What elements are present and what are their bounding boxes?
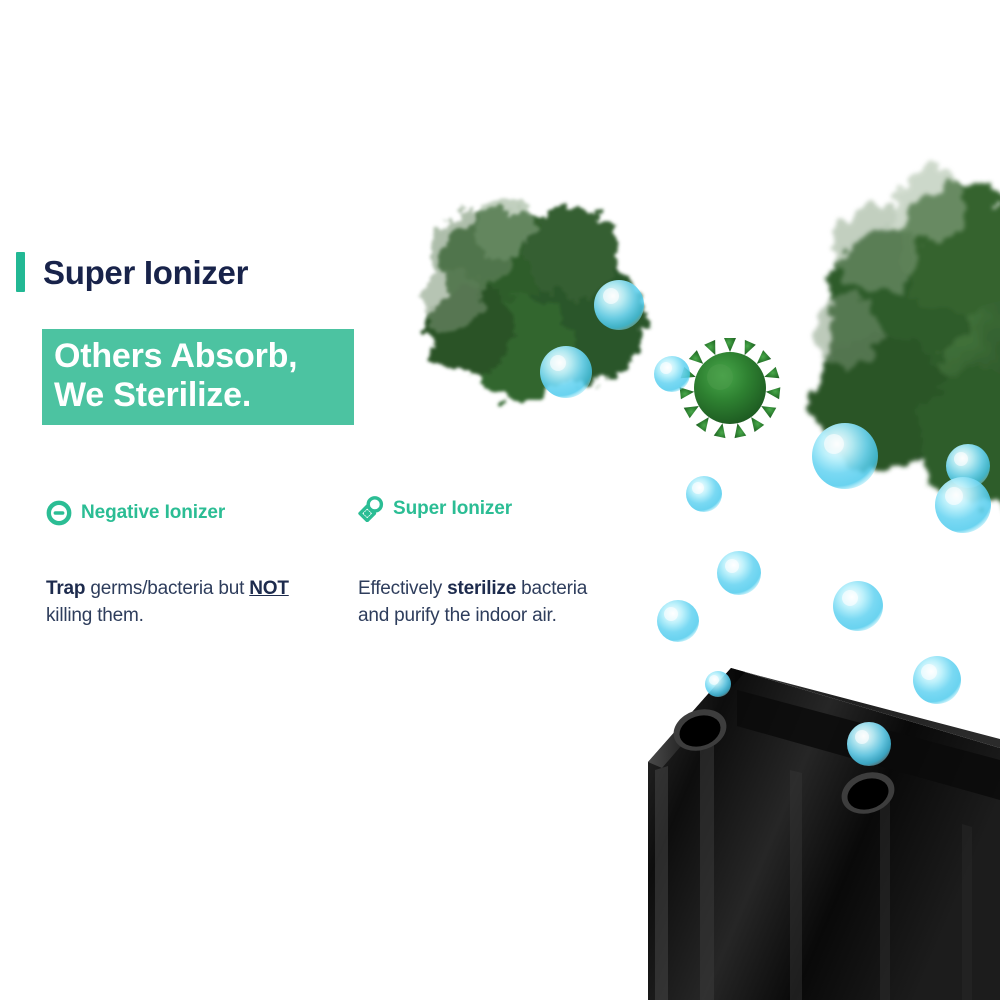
page-title: Super Ionizer (43, 256, 248, 289)
accent-bar (16, 252, 25, 292)
plus-molecule-icon (358, 496, 384, 522)
feature-description: Effectively sterilize bacteria and purif… (358, 576, 618, 630)
feature-desc-bold-sterilize: sterilize (447, 578, 516, 599)
feature-label: Negative Ionizer (81, 502, 225, 524)
virus-particle-center (680, 338, 781, 438)
feature-description: Trap germs/bacteria but NOT killing them… (46, 576, 306, 630)
tagline-banner: Others Absorb, We Sterilize. (42, 329, 354, 425)
feature-negative-ionizer: Negative Ionizer Trap germs/bacteria but… (46, 498, 306, 630)
tagline-line-1: Others Absorb, (54, 337, 354, 376)
headline-row: Super Ionizer (16, 252, 248, 292)
air-purifier-device (648, 668, 1000, 1000)
germ-cluster-top-center (422, 198, 646, 402)
feature-desc-suffix: killing them. (46, 605, 144, 626)
germ-cluster-right-edge (812, 170, 1000, 510)
feature-desc-prefix: Effectively (358, 578, 447, 599)
product-feature-graphic: Super Ionizer Others Absorb, We Steriliz… (0, 0, 1000, 1000)
feature-label: Super Ionizer (393, 498, 512, 520)
minus-circle-icon (46, 500, 72, 526)
feature-header: Super Ionizer (358, 494, 618, 524)
feature-desc-bold-trap: Trap (46, 578, 85, 599)
feature-super-ionizer: Super Ionizer Effectively sterilize bact… (358, 494, 618, 630)
tagline-line-2: We Sterilize. (54, 376, 354, 415)
feature-desc-mid: germs/bacteria but (85, 578, 249, 599)
feature-header: Negative Ionizer (46, 498, 306, 528)
feature-desc-underline-not: NOT (249, 578, 289, 599)
